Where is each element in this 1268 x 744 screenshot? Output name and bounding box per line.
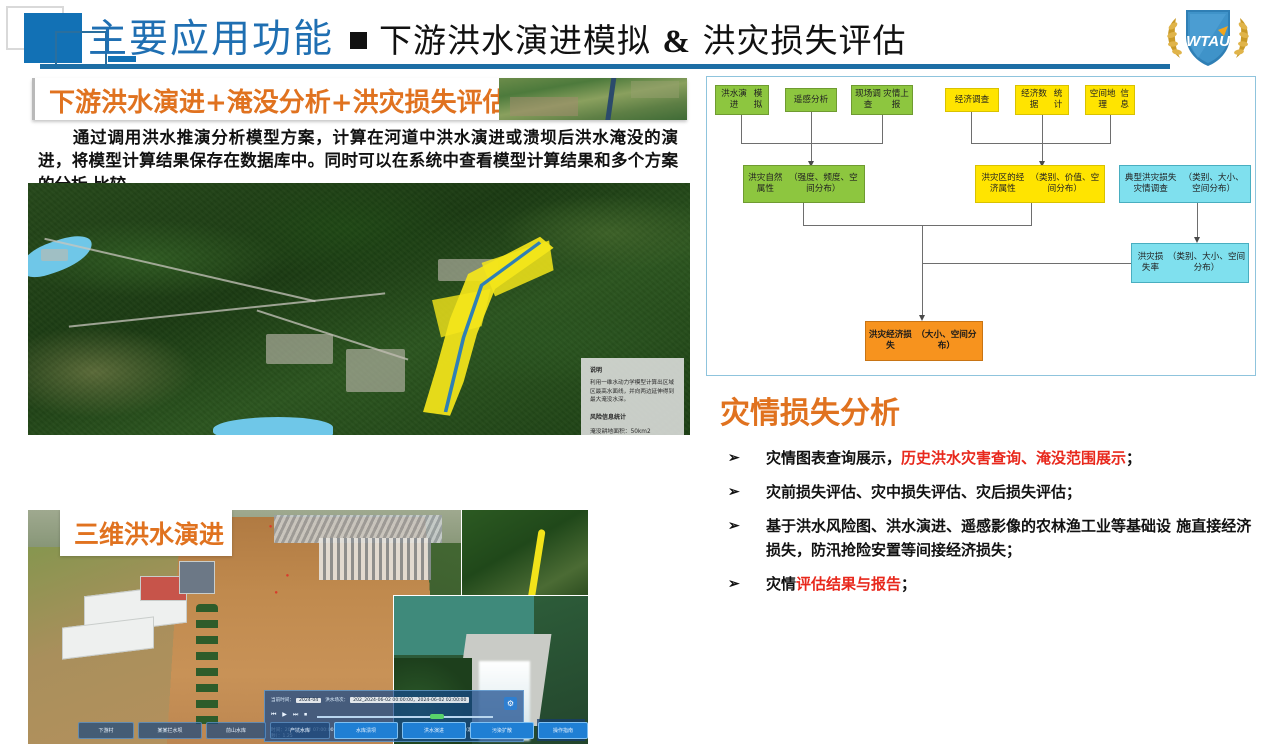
urban-area bbox=[41, 249, 67, 262]
scene-village bbox=[319, 538, 431, 580]
connector bbox=[922, 263, 1131, 264]
bullet-part: 灾情图表查询展示， bbox=[766, 449, 901, 467]
flood-3d-label: 三维洪水演进 bbox=[60, 510, 232, 556]
section-band: 下游洪水演进+淹没分析+洪灾损失评估 bbox=[32, 78, 687, 120]
flood-3d-label-text: 三维洪水演进 bbox=[74, 515, 224, 551]
page-subtitle-right: 洪灾损失评估 bbox=[703, 21, 907, 60]
connector bbox=[1042, 143, 1043, 163]
gear-icon[interactable]: ⚙ bbox=[504, 697, 517, 710]
connector bbox=[1031, 203, 1032, 225]
toolbar-button-operation-guide[interactable]: 操作指南 bbox=[538, 722, 588, 739]
scene-annotation: ● bbox=[274, 590, 278, 596]
wtau-logo: WTAU bbox=[1160, 2, 1256, 68]
arrow-bullet-icon: ➢ bbox=[728, 573, 740, 595]
bullet-part-highlight: 历史洪水灾害查询、淹没范围展示 bbox=[901, 449, 1126, 467]
flood-3d-simulation-view: ● ● ● 当前时间：2024-04洪水场次：202_2024-06-02 00… bbox=[28, 510, 588, 744]
toolbar-button-qianshan-reservoir[interactable]: 前山水库 bbox=[206, 722, 266, 739]
inset-flood-band bbox=[527, 529, 545, 602]
arrow-bullet-icon: ➢ bbox=[728, 447, 740, 469]
urban-area bbox=[266, 334, 332, 364]
thumb-field-patch bbox=[631, 81, 680, 98]
section-band-thumbnail bbox=[499, 78, 687, 120]
connector bbox=[803, 225, 1032, 226]
flow-node-economic-survey: 经济调查 bbox=[945, 88, 999, 112]
thumb-field-patch bbox=[510, 97, 578, 116]
bullet-part: 灾情 bbox=[766, 575, 796, 593]
simulation-toolbar[interactable]: 下游村 某某拦水坝 前山水库 产坑水库 水库溃坝 洪水演进 污染扩散 操作指南 bbox=[28, 722, 588, 742]
flow-node-loss-rate: 洪灾损失率（类别、大小、空间分布） bbox=[1131, 243, 1249, 283]
flow-node-flood-economic-attributes: 洪灾区的经济属性（类别、价值、空间分布） bbox=[975, 165, 1105, 203]
timeline-slider-thumb[interactable] bbox=[430, 714, 444, 719]
flow-node-typical-loss-survey: 典型洪灾损失灾情调查（类别、大小、空间分布） bbox=[1119, 165, 1251, 203]
list-item: ➢ 灾前损失评估、灾中损失评估、灾后损失评估； bbox=[714, 480, 1262, 504]
section-title-loss-analysis: 灾情损失分析 bbox=[720, 388, 900, 432]
toolbar-button-pollution-diffusion[interactable]: 污染扩散 bbox=[470, 722, 534, 739]
flow-node-spatial-geoinfo: 空间地理信息 bbox=[1085, 85, 1135, 115]
bullet-part: 灾前损失评估、灾中损失评估、灾后损失评估； bbox=[766, 483, 1081, 501]
page-header: 主要应用功能下游洪水演进模拟 & 洪灾损失评估 bbox=[0, 0, 1268, 70]
page-subtitle-amp: & bbox=[663, 24, 692, 60]
timeline-event-select[interactable]: 202_2024-06-02 00:00:00，2024-06-02 02:00… bbox=[350, 697, 469, 703]
flow-node-economic-statistics: 经济数据统计 bbox=[1015, 85, 1069, 115]
connector bbox=[741, 115, 742, 143]
bullet-part: ； bbox=[1126, 449, 1141, 467]
flood-inundation-band bbox=[333, 233, 558, 419]
panel-description-text: 利用一维水动力学模型计算出区域区最高水面线，并向两边延伸得到最大淹没水深。 bbox=[590, 379, 677, 405]
bullet-part: 基于洪水风险图、洪水演进、遥感影像的农林渔工业等基础设 施直接经济损失，防汛抢险… bbox=[766, 517, 1251, 559]
loss-assessment-flowchart: 洪水演进模拟 遥感分析 现场调查灾情上报 经济调查 经济数据统计 空间地理信息 … bbox=[706, 76, 1256, 376]
scene-tree-row bbox=[196, 604, 218, 733]
list-item: ➢ 灾情图表查询展示，历史洪水灾害查询、淹没范围展示； bbox=[714, 446, 1262, 470]
scene-building bbox=[179, 561, 215, 593]
flow-node-field-survey: 现场调查灾情上报 bbox=[851, 85, 913, 115]
connector bbox=[1197, 203, 1198, 239]
header-divider bbox=[40, 64, 1170, 69]
connector bbox=[922, 225, 923, 318]
arrow-bullet-icon: ➢ bbox=[728, 481, 740, 503]
connector bbox=[1110, 115, 1111, 143]
toolbar-button-downstream-village[interactable]: 下游村 bbox=[78, 722, 134, 739]
risk-info-panel: 说明 利用一维水动力学模型计算出区域区最高水面线，并向两边延伸得到最大淹没水深。… bbox=[581, 358, 684, 435]
timeline-fields: 当前时间：2024-04洪水场次：202_2024-06-02 00:00:00… bbox=[271, 697, 517, 703]
scene-annotation: ● bbox=[286, 573, 290, 579]
toolbar-button-weir[interactable]: 某某拦水坝 bbox=[138, 722, 202, 739]
timeline-event-label: 洪水场次： bbox=[325, 698, 348, 703]
satellite-flood-map: 说明 利用一维水动力学模型计算出区域区最高水面线，并向两边延伸得到最大淹没水深。… bbox=[28, 183, 690, 435]
bullet-part-highlight: 评估结果与报告 bbox=[796, 575, 901, 593]
bullet-list: ➢ 灾情图表查询展示，历史洪水灾害查询、淹没范围展示； ➢ 灾前损失评估、灾中损… bbox=[714, 446, 1262, 606]
connector bbox=[1042, 115, 1043, 143]
connector bbox=[811, 112, 812, 143]
toolbar-button-dam-break[interactable]: 水库溃坝 bbox=[334, 722, 398, 739]
timeline-slider[interactable] bbox=[317, 716, 493, 718]
connector bbox=[971, 143, 1111, 144]
toolbar-button-flood-routing[interactable]: 洪水演进 bbox=[402, 722, 466, 739]
logo-text: WTAU bbox=[1186, 33, 1231, 50]
connector bbox=[811, 143, 812, 163]
arrow-bullet-icon: ➢ bbox=[728, 515, 740, 537]
scene-annotation: ● bbox=[269, 524, 273, 530]
page-subtitle-left: 下游洪水演进模拟 bbox=[379, 21, 651, 60]
list-item: ➢ 基于洪水风险图、洪水演进、遥感影像的农林渔工业等基础设 施直接经济损失，防汛… bbox=[714, 514, 1262, 562]
timeline-time-label: 当前时间： bbox=[271, 698, 294, 703]
risk-stat-inundated-area: 淹没耕地面积：50km2 bbox=[590, 426, 677, 435]
panel-heading-risk-stats: 风险信息统计 bbox=[590, 412, 677, 421]
flow-node-remote-sensing: 遥感分析 bbox=[785, 88, 837, 112]
toolbar-button-chankeng-reservoir[interactable]: 产坑水库 bbox=[270, 722, 330, 739]
page-title-main: 主要应用功能 bbox=[88, 17, 334, 62]
timeline-time-value[interactable]: 2024-04 bbox=[296, 698, 321, 703]
flow-node-flood-economic-loss: 洪灾经济损失（大小、空间分布） bbox=[865, 321, 983, 361]
connector bbox=[971, 112, 972, 143]
connector bbox=[741, 143, 883, 144]
bullet-part: ； bbox=[901, 575, 916, 593]
connector bbox=[882, 115, 883, 143]
square-bullet-icon bbox=[350, 32, 367, 49]
thumb-river bbox=[604, 78, 617, 120]
reservoir-downstream bbox=[213, 417, 332, 435]
list-item: ➢ 灾情评估结果与报告； bbox=[714, 572, 1262, 596]
flow-node-flood-natural-attributes: 洪灾自然属性（强度、频度、空间分布） bbox=[743, 165, 865, 203]
left-column: 下游洪水演进+淹没分析+洪灾损失评估 通过调用洪水推演分析模型方案，计算在河道中… bbox=[0, 70, 700, 674]
page-title-sub: 下游洪水演进模拟 & 洪灾损失评估 bbox=[379, 21, 907, 60]
playback-controls[interactable]: ⏮ ▶ ⏭ ⏹ bbox=[271, 711, 309, 719]
page-title: 主要应用功能下游洪水演进模拟 & 洪灾损失评估 bbox=[88, 8, 907, 64]
right-column: 洪水演进模拟 遥感分析 现场调查灾情上报 经济调查 经济数据统计 空间地理信息 … bbox=[702, 76, 1262, 666]
flow-node-flood-routing-sim: 洪水演进模拟 bbox=[715, 85, 769, 115]
panel-heading-description: 说明 bbox=[590, 365, 677, 374]
connector bbox=[803, 203, 804, 225]
section-band-title: 下游洪水演进+淹没分析+洪灾损失评估 bbox=[49, 82, 509, 119]
